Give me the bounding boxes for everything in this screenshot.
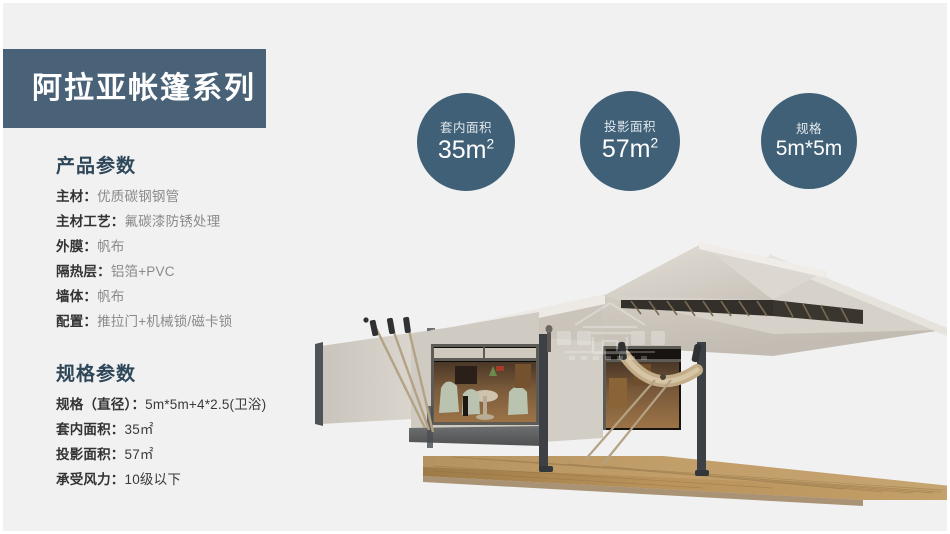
param-value: 铝箔+PVC xyxy=(111,264,175,279)
param-label: 套内面积： xyxy=(56,422,125,437)
product-params-section: 产品参数 主材：优质碳钢钢管 主材工艺：氟碳漆防锈处理 外膜：帆布 隔热层：铝箔… xyxy=(3,155,333,336)
param-value: 57㎡ xyxy=(125,447,154,462)
param-label: 墙体： xyxy=(56,289,97,304)
param-row: 投影面积：57㎡ xyxy=(56,444,333,466)
stat-value: 35m2 xyxy=(438,137,494,163)
right-wall-shape xyxy=(543,338,681,442)
param-row: 外膜：帆布 xyxy=(56,236,333,258)
stat-label: 规格 xyxy=(796,122,822,137)
param-row: 主材工艺：氟碳漆防锈处理 xyxy=(56,211,333,233)
stat-circle-interior-area: 套内面积 35m2 xyxy=(417,93,515,191)
param-label: 主材： xyxy=(56,189,97,204)
param-label: 隔热层： xyxy=(56,264,111,279)
stat-value: 57m2 xyxy=(602,136,658,162)
param-value: 推拉门+机械锁/磁卡锁 xyxy=(97,314,232,329)
param-label: 规格（直径）： xyxy=(56,397,145,412)
stat-label: 套内面积 xyxy=(440,121,492,136)
stat-circle-projected-area: 投影面积 57m2 xyxy=(580,91,680,191)
stat-value: 5m*5m xyxy=(776,138,843,160)
stat-circles-group: 套内面积 35m2 投影面积 57m2 规格 5m*5m xyxy=(417,91,877,195)
param-label: 承受风力： xyxy=(56,472,125,487)
param-row: 配置：推拉门+机械锁/磁卡锁 xyxy=(56,311,333,333)
product-params-heading: 产品参数 xyxy=(56,155,333,180)
spec-params-list: 规格（直径）：5m*5m+4*2.5(卫浴) 套内面积：35㎡ 投影面积：57㎡… xyxy=(3,394,333,491)
param-row: 承受风力：10级以下 xyxy=(56,469,333,491)
wooden-deck-shape xyxy=(423,456,950,506)
spec-params-section: 规格参数 规格（直径）：5m*5m+4*2.5(卫浴) 套内面积：35㎡ 投影面… xyxy=(3,363,333,494)
param-row: 套内面积：35㎡ xyxy=(56,419,333,441)
stat-unit-superscript: 2 xyxy=(486,137,494,152)
title-banner: 阿拉亚帐篷系列 xyxy=(2,49,266,128)
param-value: 优质碳钢钢管 xyxy=(97,189,179,204)
param-label: 配置： xyxy=(56,314,97,329)
param-row: 规格（直径）：5m*5m+4*2.5(卫浴) xyxy=(56,394,333,416)
param-row: 主材：优质碳钢钢管 xyxy=(56,186,333,208)
param-value: 帆布 xyxy=(97,289,124,304)
param-label: 主材工艺： xyxy=(56,214,125,229)
stat-circle-dimensions: 规格 5m*5m xyxy=(761,93,857,189)
param-value: 氟碳漆防锈处理 xyxy=(125,214,221,229)
param-label: 外膜： xyxy=(56,239,97,254)
slide-canvas: 阿拉亚帐篷系列 产品参数 主材：优质碳钢钢管 主材工艺：氟碳漆防锈处理 外膜：帆… xyxy=(0,0,950,534)
page-title: 阿拉亚帐篷系列 xyxy=(32,74,256,104)
tent-render-image xyxy=(303,238,950,534)
product-params-list: 主材：优质碳钢钢管 主材工艺：氟碳漆防锈处理 外膜：帆布 隔热层：铝箔+PVC … xyxy=(3,186,333,333)
param-label: 投影面积： xyxy=(56,447,125,462)
stat-label: 投影面积 xyxy=(604,120,656,135)
param-value: 5m*5m+4*2.5(卫浴) xyxy=(145,397,266,412)
param-row: 隔热层：铝箔+PVC xyxy=(56,261,333,283)
param-value: 35㎡ xyxy=(125,422,154,437)
spec-params-heading: 规格参数 xyxy=(56,363,333,388)
param-row: 墙体：帆布 xyxy=(56,286,333,308)
param-value: 10级以下 xyxy=(125,472,182,487)
stat-unit-superscript: 2 xyxy=(650,136,658,151)
param-value: 帆布 xyxy=(97,239,124,254)
